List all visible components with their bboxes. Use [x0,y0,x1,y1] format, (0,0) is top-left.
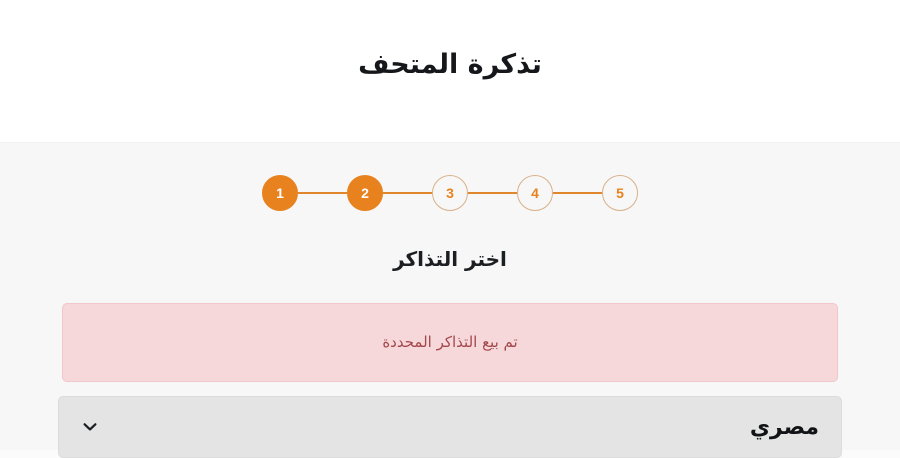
section-heading: اختر التذاكر [0,247,900,271]
page-title: تذكرة المتحف [0,48,900,82]
stepper-step-4[interactable]: 4 [517,175,553,211]
sold-out-alert-message: تم بيع التذاكر المحددة [382,332,517,353]
stepper-step-1-number: 1 [276,186,284,200]
stepper-step-4-number: 4 [531,186,539,200]
stepper-step-3[interactable]: 3 [432,175,468,211]
stepper-connector-1-2 [298,192,347,194]
ticket-type-selected-value: مصري [750,415,819,440]
stepper-step-5-number: 5 [616,186,624,200]
sold-out-alert: تم بيع التذاكر المحددة [62,303,838,382]
stepper-step-1[interactable]: 1 [262,175,298,211]
chevron-down-icon[interactable] [81,418,99,436]
stepper-step-2-number: 2 [361,186,369,200]
page-body: 1 2 3 4 5 اختر التذاكر تم بيع التذاك [0,143,900,450]
stepper-step-2[interactable]: 2 [347,175,383,211]
stepper-step-5[interactable]: 5 [602,175,638,211]
ticket-type-select[interactable]: مصري [58,396,842,458]
stepper-step-3-number: 3 [446,186,454,200]
page-header: تذكرة المتحف [0,0,900,143]
booking-stepper: 1 2 3 4 5 [0,174,900,212]
stepper-connector-4-5 [553,192,602,194]
stepper-connector-2-3 [383,192,432,194]
stepper-connector-3-4 [468,192,517,194]
ticket-booking-page: تذكرة المتحف 1 2 3 4 5 [0,0,900,450]
